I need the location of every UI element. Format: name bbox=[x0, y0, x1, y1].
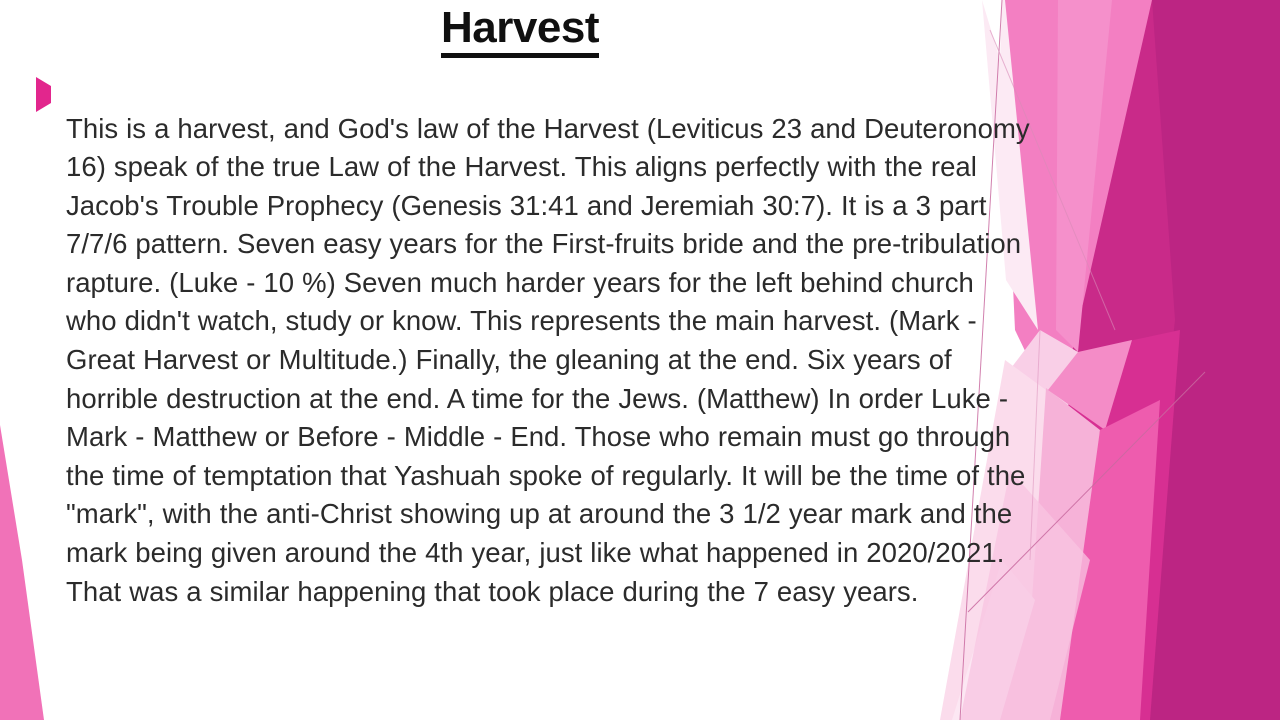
body-paragraph: This is a harvest, and God's law of the … bbox=[66, 110, 1031, 612]
decor-lower-bright-wedge bbox=[1060, 400, 1160, 720]
decor-hairline-short bbox=[1030, 330, 1040, 560]
decor-top-pale-sliver bbox=[1056, 0, 1112, 352]
decor-right-magenta-band bbox=[1040, 0, 1172, 720]
decor-right-mid-magenta bbox=[1010, 0, 1175, 720]
presentation-slide: Harvest This is a harvest, and God's law… bbox=[0, 0, 1280, 720]
page-title: Harvest bbox=[441, 6, 599, 58]
decor-right-deep-column bbox=[1118, 0, 1280, 720]
body-bullet-block: This is a harvest, and God's law of the … bbox=[36, 82, 1031, 639]
title-block: Harvest bbox=[0, 6, 1040, 58]
decor-mid-pink-facet bbox=[1048, 340, 1132, 430]
